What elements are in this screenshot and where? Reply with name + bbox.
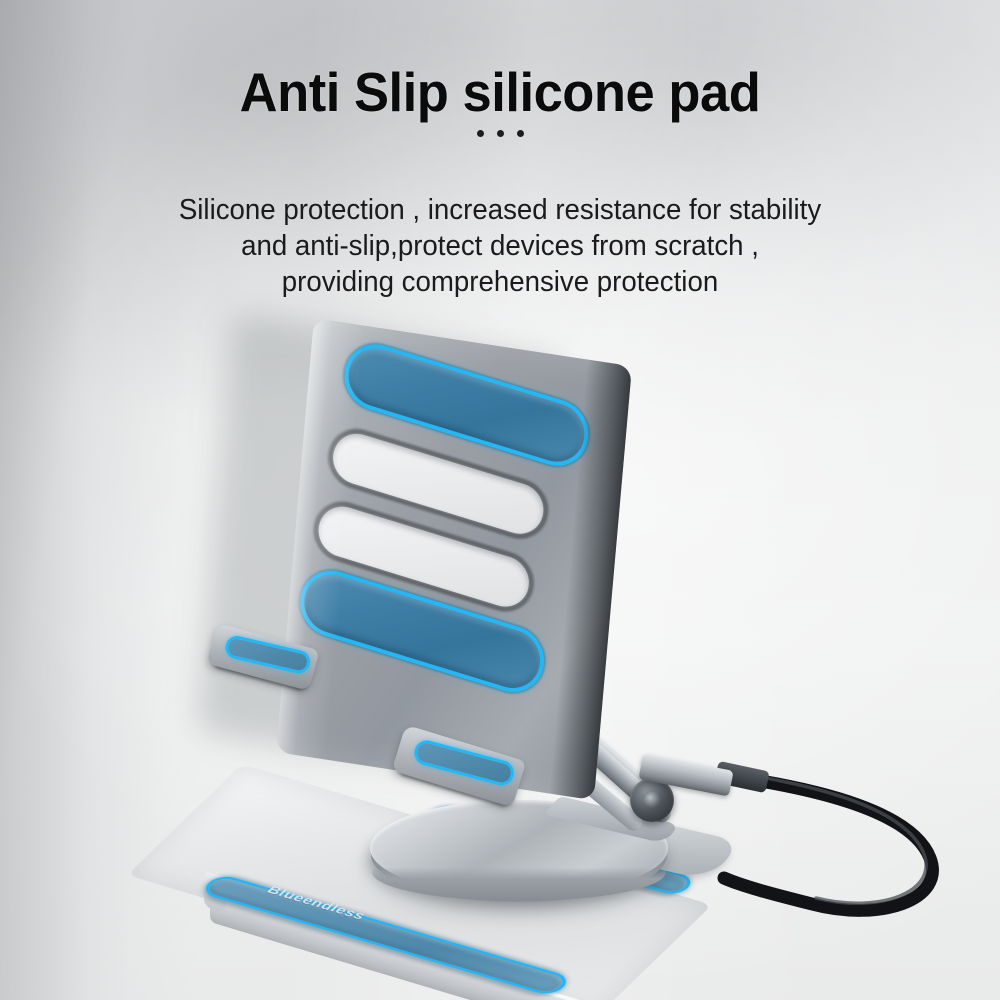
page-title: Anti Slip silicone pad bbox=[23, 64, 978, 121]
description-line-2: and anti-slip,protect devices from scrat… bbox=[15, 228, 985, 264]
product-marketing-image: Anti Slip silicone pad Silicone protecti… bbox=[0, 0, 1000, 1000]
description-text: Silicone protection , increased resistan… bbox=[15, 192, 985, 300]
product-photo: Blueendless bbox=[0, 0, 1000, 1000]
description-line-1: Silicone protection , increased resistan… bbox=[15, 192, 985, 228]
header-block: Anti Slip silicone pad bbox=[0, 64, 1000, 137]
back-plate-right-edge bbox=[276, 318, 632, 800]
ellipsis-dots bbox=[0, 130, 1000, 137]
description-line-3: providing comprehensive protection bbox=[15, 264, 985, 300]
